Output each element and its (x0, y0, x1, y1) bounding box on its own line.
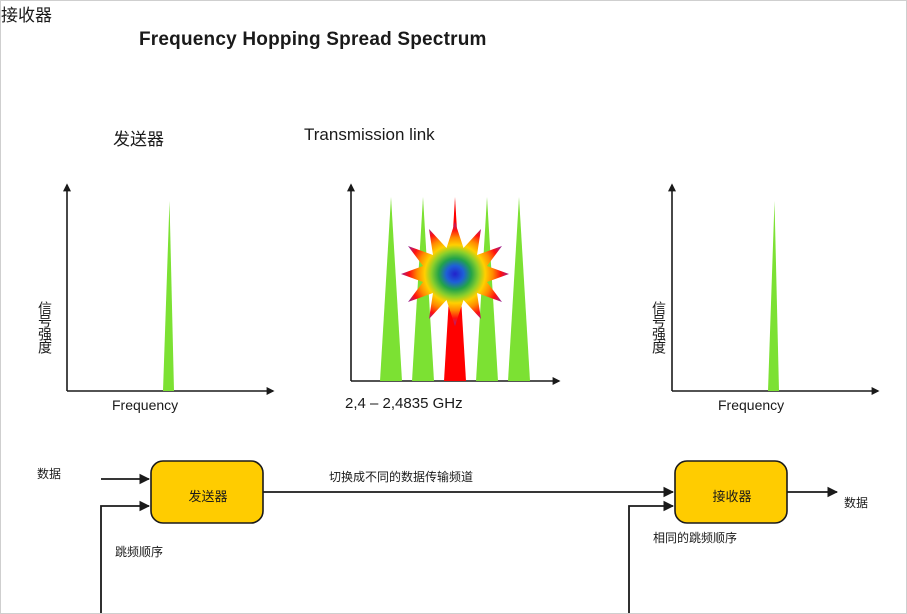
heading-receiver: 接收器 (1, 1, 52, 26)
signal-spike (163, 201, 174, 391)
arrow-hop-sequence-receiver (629, 506, 673, 614)
label-block-transmitter: 发送器 (153, 486, 263, 505)
chart-receiver (646, 179, 886, 404)
axis-x-label-receiver: Frequency (718, 397, 784, 413)
arrow-hop-sequence-transmitter (101, 506, 149, 614)
chart-transmitter (41, 179, 281, 404)
axis-y-label-receiver: 信号强度 (649, 301, 669, 353)
axis-x-label-link: 2,4 – 2,4835 GHz (345, 395, 463, 412)
label-data-out: 数据 (844, 496, 868, 511)
signal-spike (768, 201, 779, 391)
label-hop-sequence-receiver: 相同的跳频顺序 (653, 531, 739, 546)
block-diagram (1, 431, 907, 614)
axis-x-label-transmitter: Frequency (112, 397, 178, 413)
signal-spike-channel-1 (380, 197, 402, 381)
label-transmission-channel: 切换成不同的数据传输频道 (329, 470, 473, 485)
label-hop-sequence-transmitter: 跳频顺序 (115, 545, 163, 560)
page-title: Frequency Hopping Spread Spectrum (139, 29, 487, 51)
axis-y-label-transmitter: 信号强度 (35, 301, 55, 353)
heading-transmitter: 发送器 (113, 125, 164, 150)
chart-transmission-link (341, 179, 566, 404)
heading-transmission-link: Transmission link (304, 125, 435, 145)
label-data-in: 数据 (37, 467, 61, 482)
figure-canvas: Frequency Hopping Spread Spectrum 发送器 Tr… (0, 0, 907, 614)
signal-spike-channel-5 (508, 197, 530, 381)
label-block-receiver: 接收器 (677, 486, 787, 505)
